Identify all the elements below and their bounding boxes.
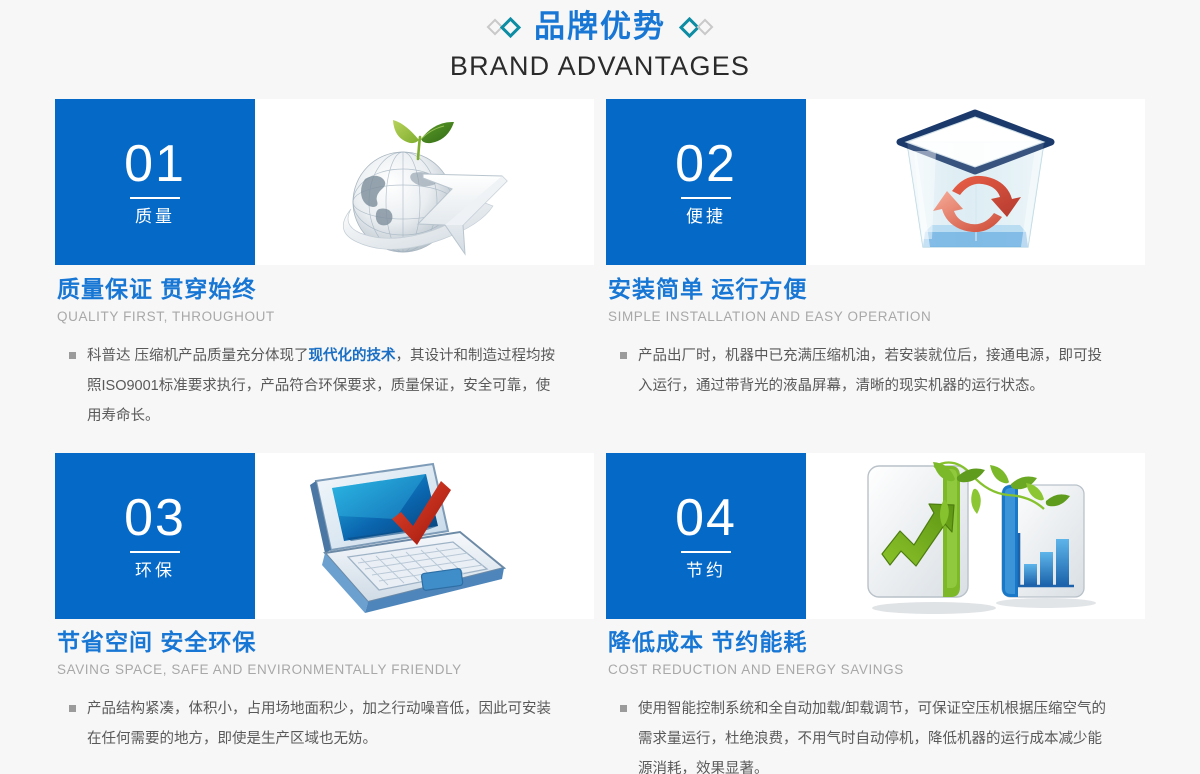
card-subtitle: QUALITY FIRST, THROUGHOUT: [57, 307, 594, 327]
card-image-panel-03: [255, 453, 594, 619]
card-number: 01: [124, 136, 186, 192]
card-body-04: 降低成本 节约能耗 COST REDUCTION AND ENERGY SAVI…: [606, 619, 1145, 774]
card-description: 科普达 压缩机产品质量充分体现了现代化的技术，其设计和制造过程均按照ISO900…: [57, 341, 557, 431]
page-title-cn: 品牌优势: [534, 6, 666, 48]
card-description-text: 产品出厂时，机器中已充满压缩机油，若安装就位后，接通电源，即可投入运行，通过带背…: [638, 341, 1108, 401]
card-top-03: 03 环保: [55, 453, 594, 619]
desc-before: 产品结构紧凑，体积小，占用场地面积少，加之行动噪音低，因此可安装在任何需要的地方…: [87, 701, 551, 747]
card-title: 节省空间 安全环保: [57, 627, 594, 657]
diamond-teal-icon: [500, 16, 521, 37]
decorative-diamonds-left: [489, 20, 518, 35]
bullet-square-icon: [69, 705, 76, 712]
card-keyword: 便捷: [686, 206, 726, 228]
desc-before: 产品出厂时，机器中已充满压缩机油，若安装就位后，接通电源，即可投入运行，通过带背…: [638, 348, 1102, 394]
number-divider: [681, 551, 731, 553]
number-divider: [130, 197, 180, 199]
growth-chart-cards-with-vines-icon: [806, 453, 1145, 619]
card-body-01: 质量保证 贯穿始终 QUALITY FIRST, THROUGHOUT 科普达 …: [55, 265, 594, 431]
card-top-01: 01 质量: [55, 99, 594, 265]
number-box-04: 04 节约: [606, 453, 806, 619]
card-keyword: 节约: [686, 560, 726, 582]
bullet-square-icon: [620, 352, 627, 359]
card-body-02: 安装简单 运行方便 SIMPLE INSTALLATION AND EASY O…: [606, 265, 1145, 401]
page-title-en: BRAND ADVANTAGES: [0, 49, 1200, 83]
diamond-gray-icon: [697, 19, 714, 36]
card-subtitle: SIMPLE INSTALLATION AND EASY OPERATION: [608, 307, 1145, 327]
number-divider: [681, 197, 731, 199]
card-keyword: 质量: [135, 206, 175, 228]
advantage-card-02[interactable]: 02 便捷: [606, 99, 1145, 431]
card-title: 质量保证 贯穿始终: [57, 274, 594, 304]
bullet-square-icon: [620, 705, 627, 712]
card-top-04: 04 节约: [606, 453, 1145, 619]
card-number: 04: [675, 490, 737, 546]
decorative-diamonds-right: [682, 20, 711, 35]
card-description: 产品结构紧凑，体积小，占用场地面积少，加之行动噪音低，因此可安装在任何需要的地方…: [57, 694, 557, 754]
card-keyword: 环保: [135, 560, 175, 582]
card-top-02: 02 便捷: [606, 99, 1145, 265]
globe-with-sprout-and-arrow-icon: [255, 99, 594, 265]
card-title: 安装简单 运行方便: [608, 274, 1145, 304]
card-title: 降低成本 节约能耗: [608, 627, 1145, 657]
card-body-03: 节省空间 安全环保 SAVING SPACE, SAFE AND ENVIRON…: [55, 619, 594, 754]
number-box-01: 01 质量: [55, 99, 255, 265]
advantage-cards-grid: 01 质量: [55, 99, 1145, 774]
card-subtitle: SAVING SPACE, SAFE AND ENVIRONMENTALLY F…: [57, 660, 594, 680]
card-description-text: 使用智能控制系统和全自动加载/卸载调节，可保证空压机根据压缩空气的需求量运行，杜…: [638, 694, 1108, 774]
bullet-square-icon: [69, 352, 76, 359]
advantage-card-04[interactable]: 04 节约: [606, 453, 1145, 774]
card-number: 02: [675, 136, 737, 192]
advantage-card-01[interactable]: 01 质量: [55, 99, 594, 431]
desc-before: 科普达 压缩机产品质量充分体现了: [87, 348, 309, 364]
number-box-02: 02 便捷: [606, 99, 806, 265]
card-description-text: 产品结构紧凑，体积小，占用场地面积少，加之行动噪音低，因此可安装在任何需要的地方…: [87, 694, 557, 754]
desc-before: 使用智能控制系统和全自动加载/卸载调节，可保证空压机根据压缩空气的需求量运行，杜…: [638, 701, 1106, 774]
card-subtitle: COST REDUCTION AND ENERGY SAVINGS: [608, 660, 1145, 680]
card-description: 产品出厂时，机器中已充满压缩机油，若安装就位后，接通电源，即可投入运行，通过带背…: [608, 341, 1108, 401]
glass-recycle-bin-icon: [806, 99, 1145, 265]
header-title-row: 品牌优势: [0, 6, 1200, 48]
card-number: 03: [124, 490, 186, 546]
card-description-text: 科普达 压缩机产品质量充分体现了现代化的技术，其设计和制造过程均按照ISO900…: [87, 341, 557, 431]
laptop-with-red-checkmark-icon: [255, 453, 594, 619]
number-divider: [130, 551, 180, 553]
card-image-panel-04: [806, 453, 1145, 619]
desc-highlight: 现代化的技术: [309, 348, 396, 364]
card-image-panel-02: [806, 99, 1145, 265]
advantage-card-03[interactable]: 03 环保: [55, 453, 594, 774]
card-description: 使用智能控制系统和全自动加载/卸载调节，可保证空压机根据压缩空气的需求量运行，杜…: [608, 694, 1108, 774]
card-image-panel-01: [255, 99, 594, 265]
number-box-03: 03 环保: [55, 453, 255, 619]
page-header: 品牌优势 BRAND ADVANTAGES: [0, 0, 1200, 83]
